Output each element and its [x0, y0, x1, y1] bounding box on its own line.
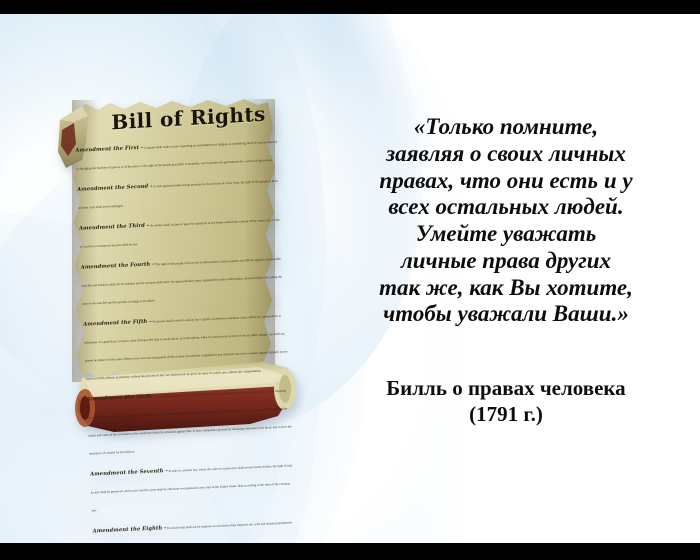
quote-line: так же, как Вы хотите,: [330, 275, 682, 302]
quote-line: всех остальных людей.: [330, 194, 682, 221]
quote-line: правах, что они есть и у: [330, 168, 682, 195]
quote-line: заявляя о своих личных: [330, 141, 682, 168]
quote-line: личные права других: [330, 248, 682, 275]
quote-line: «Только помните,: [330, 114, 682, 141]
quote-text-block: «Только помните,заявляя о своих личныхпр…: [330, 114, 682, 328]
scroll-sheet: [72, 99, 275, 382]
attribution-line: (1791 г.): [330, 402, 682, 428]
bill-of-rights-scroll-image: Bill of Rights Amendment the First - Con…: [52, 86, 320, 436]
attribution-text-block: Билль о правах человека(1791 г.): [330, 376, 682, 427]
slide-canvas: Bill of Rights Amendment the First - Con…: [0, 14, 700, 543]
presentation-slide: Bill of Rights Amendment the First - Con…: [0, 0, 700, 560]
quote-line: Умейте уважать: [330, 221, 682, 248]
attribution-line: Билль о правах человека: [330, 376, 682, 402]
letterbox-bar-bottom: [0, 543, 700, 560]
letterbox-bar-top: [0, 0, 700, 14]
quote-line: чтобы уважали Ваши.»: [330, 301, 682, 328]
